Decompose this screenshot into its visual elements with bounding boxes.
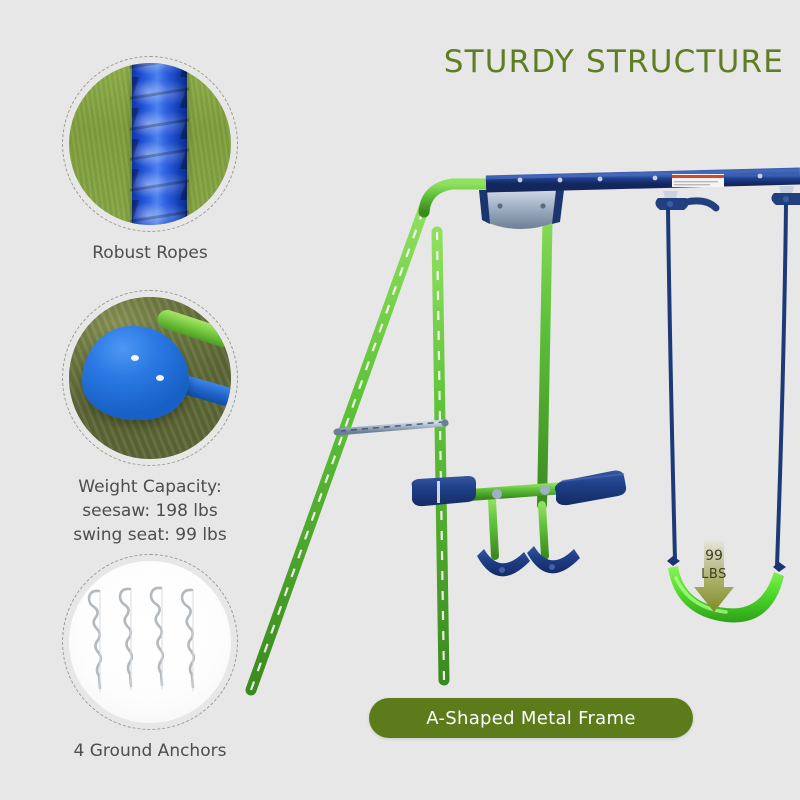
ground-anchors-thumbnail [62, 554, 238, 730]
frame-type-label: A-Shaped Metal Frame [426, 708, 635, 729]
top-beam [486, 170, 800, 187]
feature-ground-anchors: 4 Ground Anchors [38, 554, 262, 763]
feature-caption: Weight Capacity: seesaw: 198 lbs swing s… [38, 475, 262, 547]
glider-footrest-right [527, 546, 580, 573]
feature-robust-ropes: Robust Ropes [38, 56, 262, 265]
infographic-canvas: STURDY STRUCTURE [0, 0, 800, 800]
weight-callout-arrow [693, 541, 735, 613]
feature-caption: 4 Ground Anchors [38, 739, 262, 763]
swing-hanger-left [655, 191, 716, 210]
weight-capacity-thumbnail [62, 290, 238, 466]
glider-hanger-bracket [479, 190, 564, 229]
a-frame-apex [424, 184, 486, 212]
glider-seat-right [555, 471, 626, 506]
glider-poles [492, 196, 548, 556]
swing-ropes [667, 205, 786, 572]
robust-ropes-thumbnail [62, 56, 238, 232]
dashed-ring [62, 290, 238, 466]
a-frame-right-leg [437, 232, 444, 680]
frame-type-banner: A-Shaped Metal Frame [369, 698, 693, 738]
feature-caption: Robust Ropes [38, 241, 262, 265]
dashed-ring [62, 56, 238, 232]
dashed-ring [62, 554, 238, 730]
feature-weight-capacity: Weight Capacity: seesaw: 198 lbs swing s… [38, 290, 262, 547]
a-frame-left-leg [251, 208, 424, 690]
glider-seat-left [412, 476, 476, 506]
glider-footrest-left [477, 549, 530, 576]
